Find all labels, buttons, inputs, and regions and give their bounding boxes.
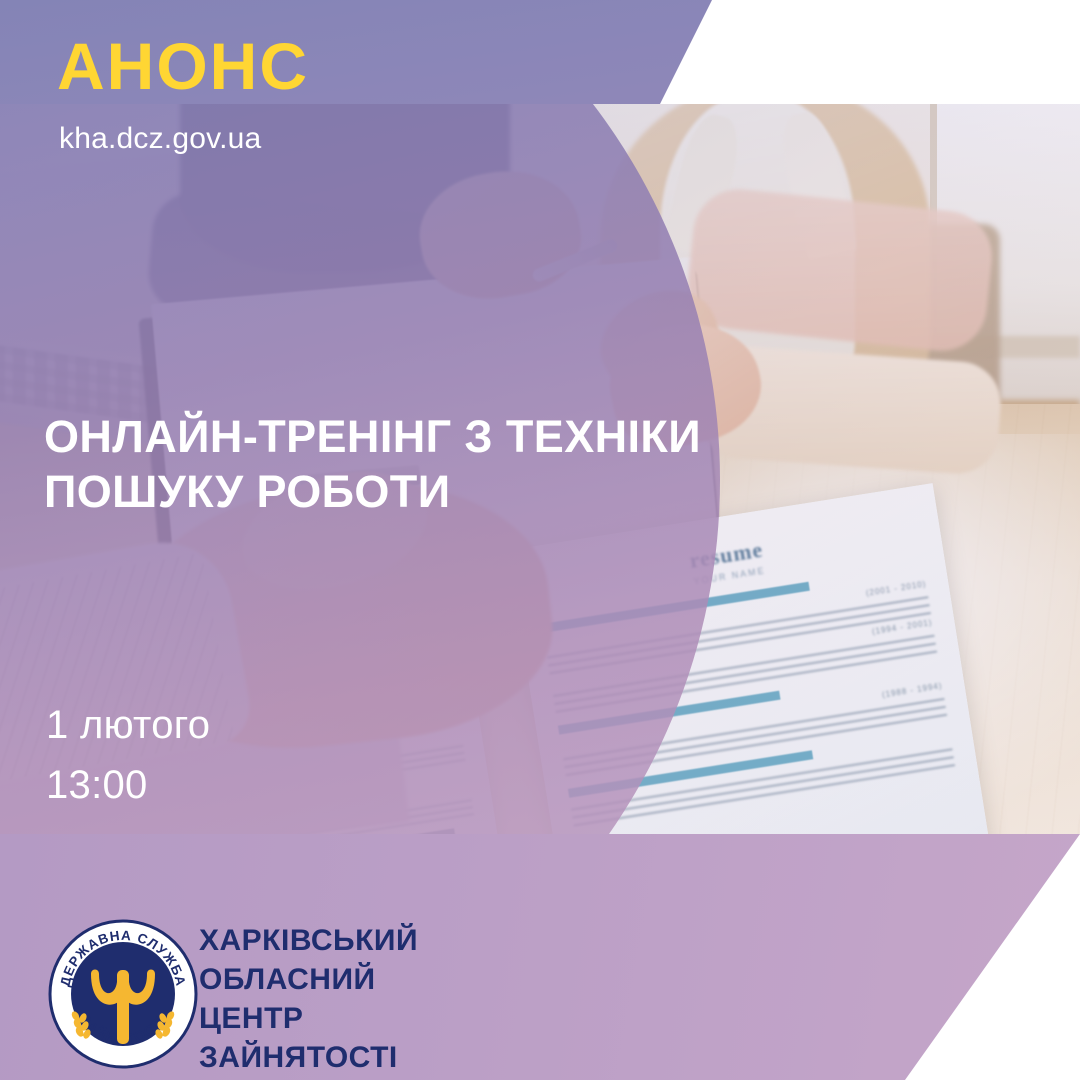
website-url[interactable]: kha.dcz.gov.ua [59,122,261,156]
page-title: ОНЛАЙН-ТРЕНІНГ З ТЕХНІКИ ПОШУКУ РОБОТИ [44,410,724,520]
announcement-poster: resume YOUR NAME (2001 - 2010) (1994 - 2… [0,0,1080,1080]
event-time: 13:00 [46,763,148,808]
org-line-1: ХАРКІВСЬКИЙ [199,921,418,960]
org-line-3: ЦЕНТР [199,999,418,1038]
org-line-2: ОБЛАСНИЙ [199,960,418,999]
headline-line-2: ПОШУКУ РОБОТИ [44,465,724,520]
logo-emblem-icon: ДЕРЖАВНА СЛУЖБА ЗАЙНЯТОСТІ [47,918,199,1070]
headline-line-1: ОНЛАЙН-ТРЕНІНГ З ТЕХНІКИ [44,411,701,462]
organization-name: ХАРКІВСЬКИЙ ОБЛАСНИЙ ЦЕНТР ЗАЙНЯТОСТІ [199,921,418,1077]
event-date: 1 лютого [46,703,210,748]
employment-service-logo: ДЕРЖАВНА СЛУЖБА ЗАЙНЯТОСТІ [47,918,199,1070]
org-line-4: ЗАЙНЯТОСТІ [199,1038,418,1077]
kicker-label: АНОНС [57,33,309,99]
